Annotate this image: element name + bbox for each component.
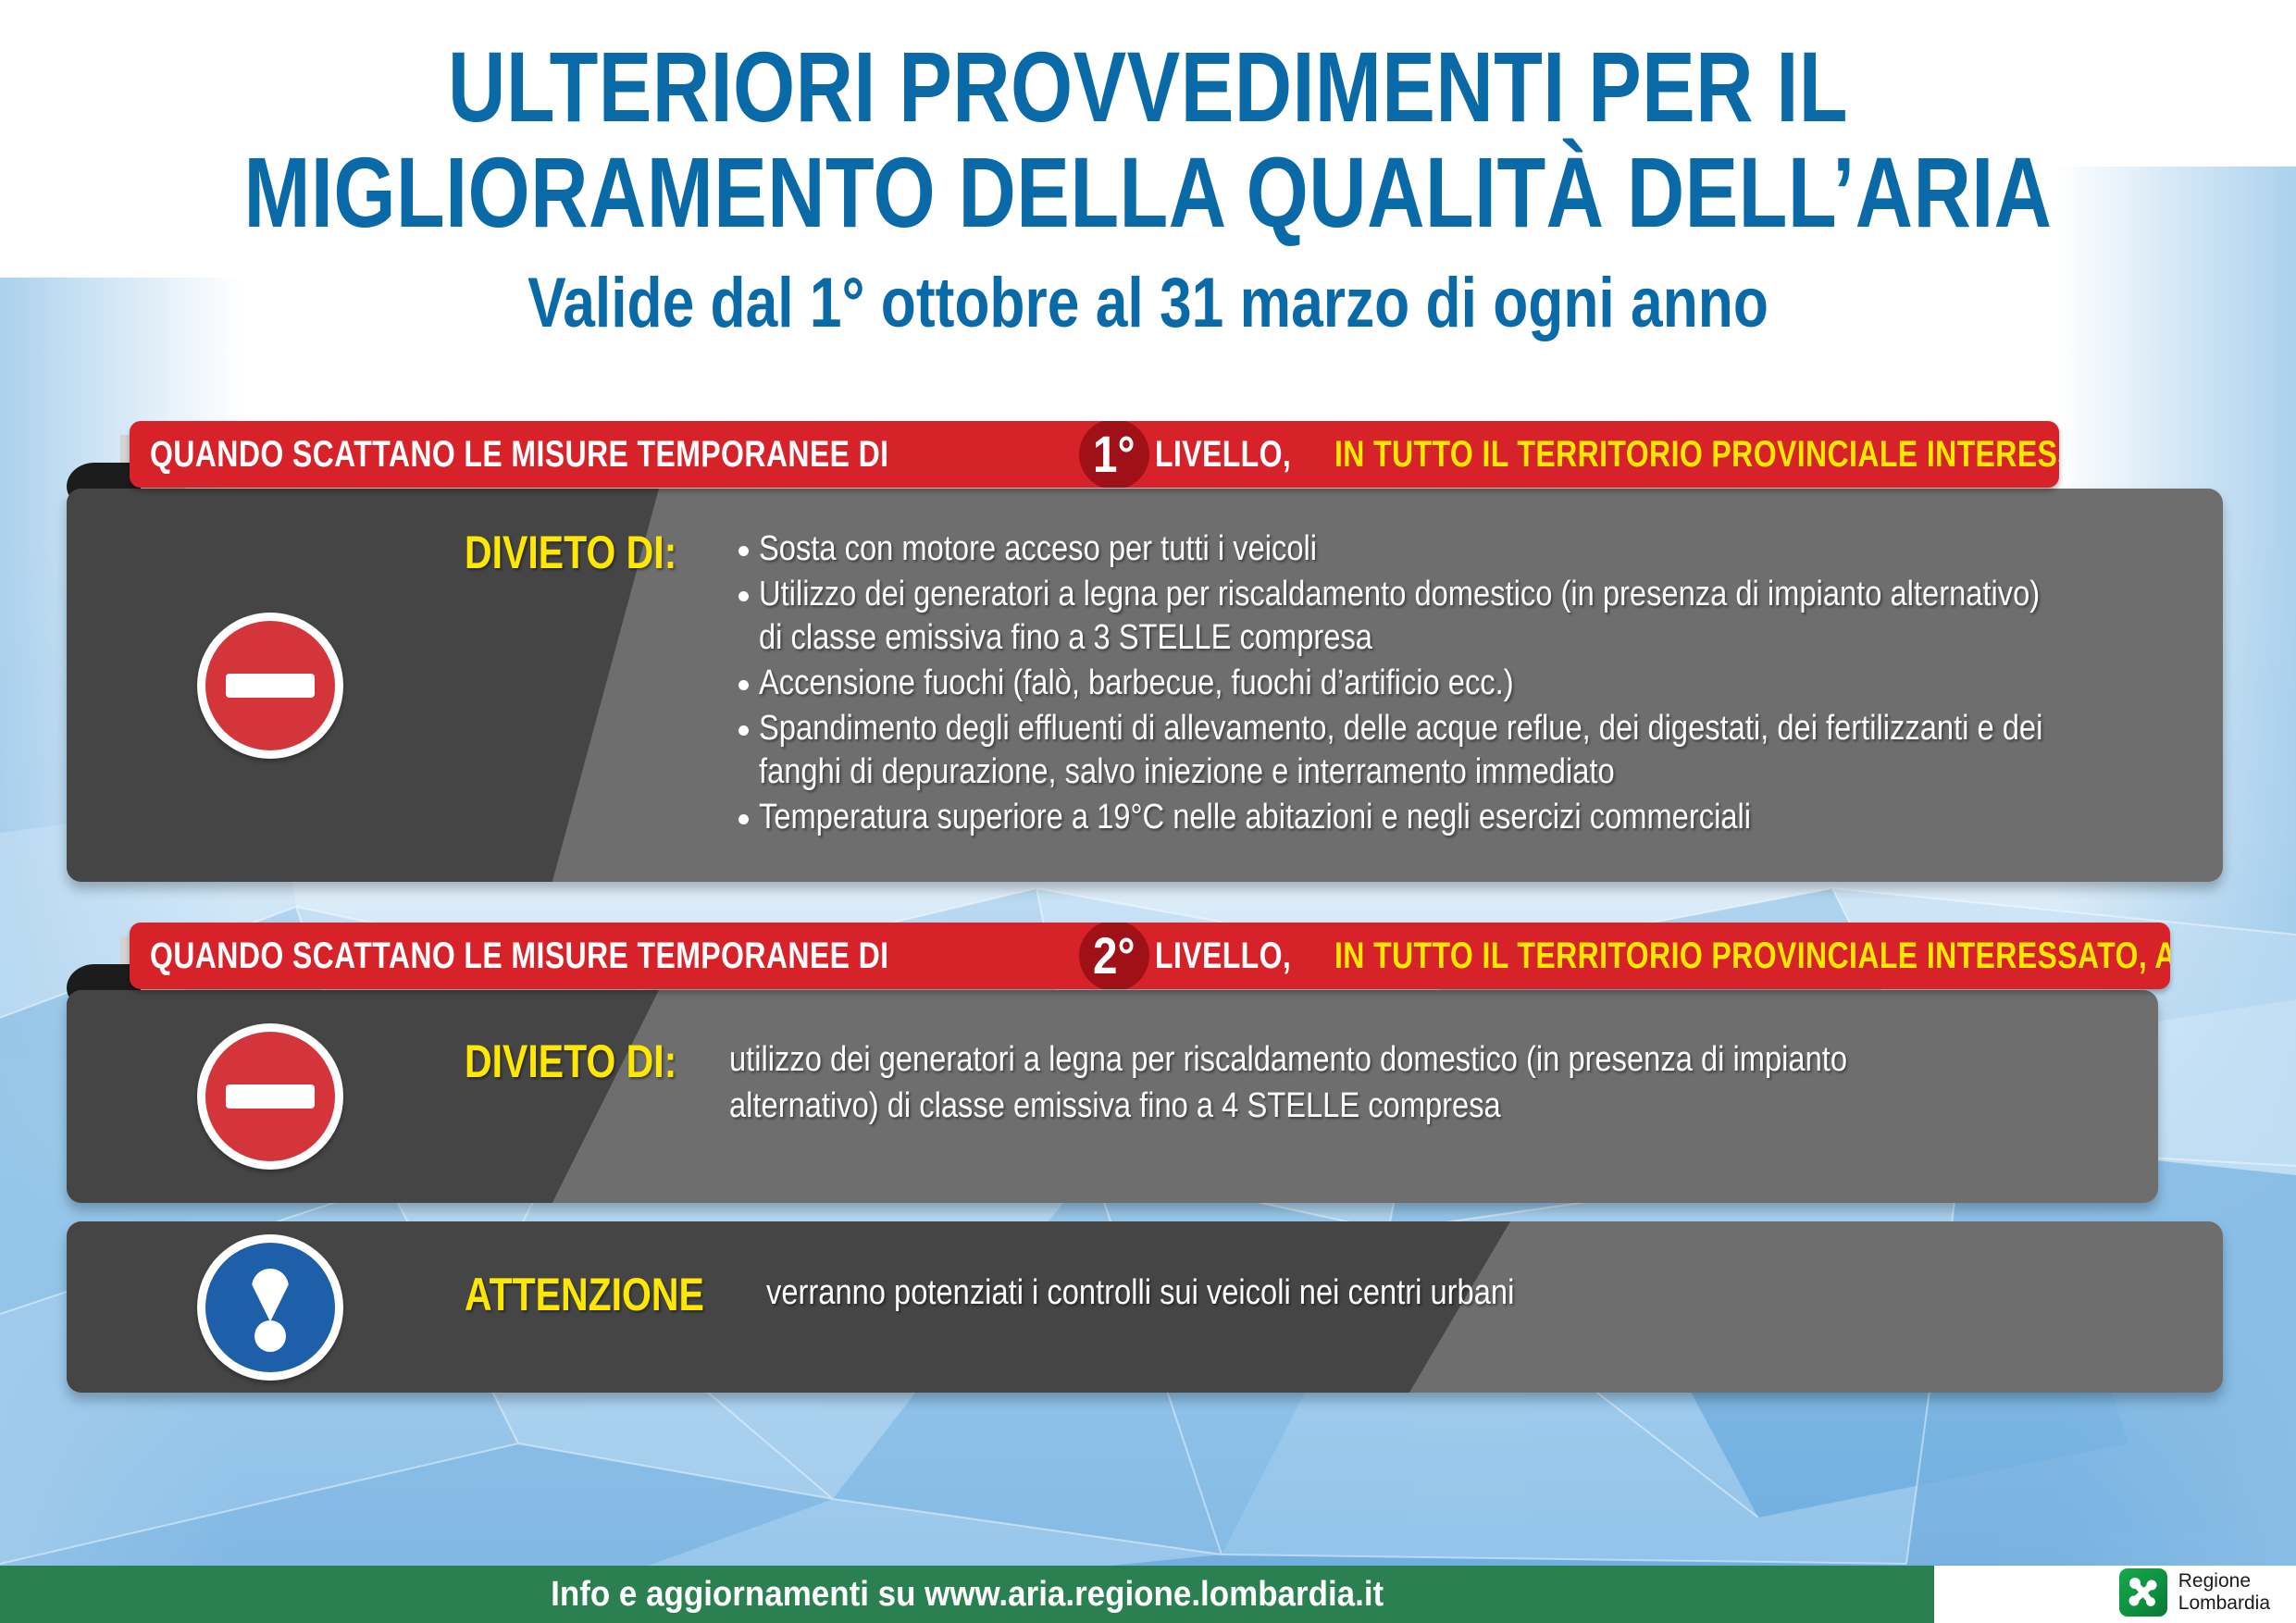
rosa-camuna-icon xyxy=(2119,1568,2167,1617)
no-entry-sign-icon xyxy=(197,613,343,759)
banner-2-highlight: IN TUTTO IL TERRITORIO PROVINCIALE INTER… xyxy=(1334,936,2170,975)
card-1-bullet-list: Sosta con motore acceso per tutti i veic… xyxy=(731,527,2223,841)
card-1-icon-area xyxy=(67,489,474,882)
card-1-label: DIVIETO DI: xyxy=(465,527,676,577)
list-item: Spandimento degli effluenti di allevamen… xyxy=(731,707,2223,794)
bullet-4-line-2: fanghi di depurazione, salvo iniezione e… xyxy=(759,750,2042,794)
card-2-icon-area xyxy=(67,990,474,1203)
page-title-line2: MIGLIORAMENTO DELLA QUALITÀ DELL’ARIA xyxy=(230,141,2066,244)
banner-1-middle: LIVELLO, xyxy=(1155,435,1291,474)
regione-lombardia-logo: Regione Lombardia xyxy=(2119,1566,2270,1619)
page-subtitle: Valide dal 1° ottobre al 31 marzo di ogn… xyxy=(206,266,2089,341)
card-2-label: DIVIETO DI: xyxy=(465,1036,676,1086)
bullet-3-line-1: Accensione fuochi (falò, barbecue, fuoch… xyxy=(759,662,2042,705)
page-title-line1: ULTERIORI PROVVEDIMENTI PER IL xyxy=(230,35,2066,139)
footer-info-text[interactable]: Info e aggiornamenti su www.aria.regione… xyxy=(551,1576,1384,1613)
card-level-1: DIVIETO DI: Sosta con motore acceso per … xyxy=(67,489,2223,882)
card-level-2: DIVIETO DI: utilizzo dei generatori a le… xyxy=(67,990,2158,1203)
level-badge-1-value: 1° xyxy=(1093,428,1136,480)
logo-wordmark: Regione Lombardia xyxy=(2178,1570,2270,1615)
info-exclamation-sign-icon xyxy=(197,1234,343,1381)
poster-header: ULTERIORI PROVVEDIMENTI PER IL MIGLIORAM… xyxy=(0,0,2296,341)
list-item: Sosta con motore acceso per tutti i veic… xyxy=(731,527,2223,571)
banner-2-prefix: QUANDO SCATTANO LE MISURE TEMPORANEE DI xyxy=(150,936,888,975)
banner-level-2: QUANDO SCATTANO LE MISURE TEMPORANEE DI … xyxy=(130,923,2170,989)
bullet-4-line-1: Spandimento degli effluenti di allevamen… xyxy=(759,707,2042,750)
card-2-line-2: alternativo) di classe emissiva fino a 4… xyxy=(729,1083,1501,1129)
list-item: Accensione fuochi (falò, barbecue, fuoch… xyxy=(731,662,2223,705)
level-badge-2: 2° xyxy=(1079,923,1149,989)
footer-info-strip: Info e aggiornamenti su www.aria.regione… xyxy=(0,1566,1934,1623)
banner-1-highlight: IN TUTTO IL TERRITORIO PROVINCIALE INTER… xyxy=(1334,435,2059,474)
banner-1-prefix: QUANDO SCATTANO LE MISURE TEMPORANEE DI xyxy=(150,435,888,474)
banner-2-middle: LIVELLO, xyxy=(1155,936,1291,975)
footer-bar: Info e aggiornamenti su www.aria.regione… xyxy=(0,1566,2296,1623)
card-3-line-1: verranno potenziati i controlli sui veic… xyxy=(766,1270,1514,1316)
bullet-2-line-2: di classe emissiva fino a 3 STELLE compr… xyxy=(759,616,2042,660)
card-attention: ATTENZIONE verranno potenziati i control… xyxy=(67,1221,2223,1393)
card-3-icon-area xyxy=(67,1221,474,1393)
bullet-1-line-1: Sosta con motore acceso per tutti i veic… xyxy=(759,527,2042,571)
list-item: Utilizzo dei generatori a legna per risc… xyxy=(731,573,2223,660)
card-3-paragraph: verranno potenziati i controlli sui veic… xyxy=(766,1270,1636,1316)
logo-line-2: Lombardia xyxy=(2178,1592,2270,1615)
logo-line-1: Regione xyxy=(2178,1570,2270,1592)
card-3-label: ATTENZIONE xyxy=(465,1270,704,1319)
bullet-5-line-1: Temperatura superiore a 19°C nelle abita… xyxy=(759,796,2042,839)
card-2-line-1: utilizzo dei generatori a legna per risc… xyxy=(729,1036,1847,1083)
list-item: Temperatura superiore a 19°C nelle abita… xyxy=(731,796,2223,839)
level-badge-1: 1° xyxy=(1079,421,1149,488)
banner-level-1: QUANDO SCATTANO LE MISURE TEMPORANEE DI … xyxy=(130,421,2059,488)
level-badge-2-value: 2° xyxy=(1093,930,1136,982)
no-entry-sign-icon xyxy=(197,1023,343,1170)
card-2-paragraph: utilizzo dei generatori a legna per risc… xyxy=(729,1036,2140,1129)
bullet-2-line-1: Utilizzo dei generatori a legna per risc… xyxy=(759,573,2042,616)
